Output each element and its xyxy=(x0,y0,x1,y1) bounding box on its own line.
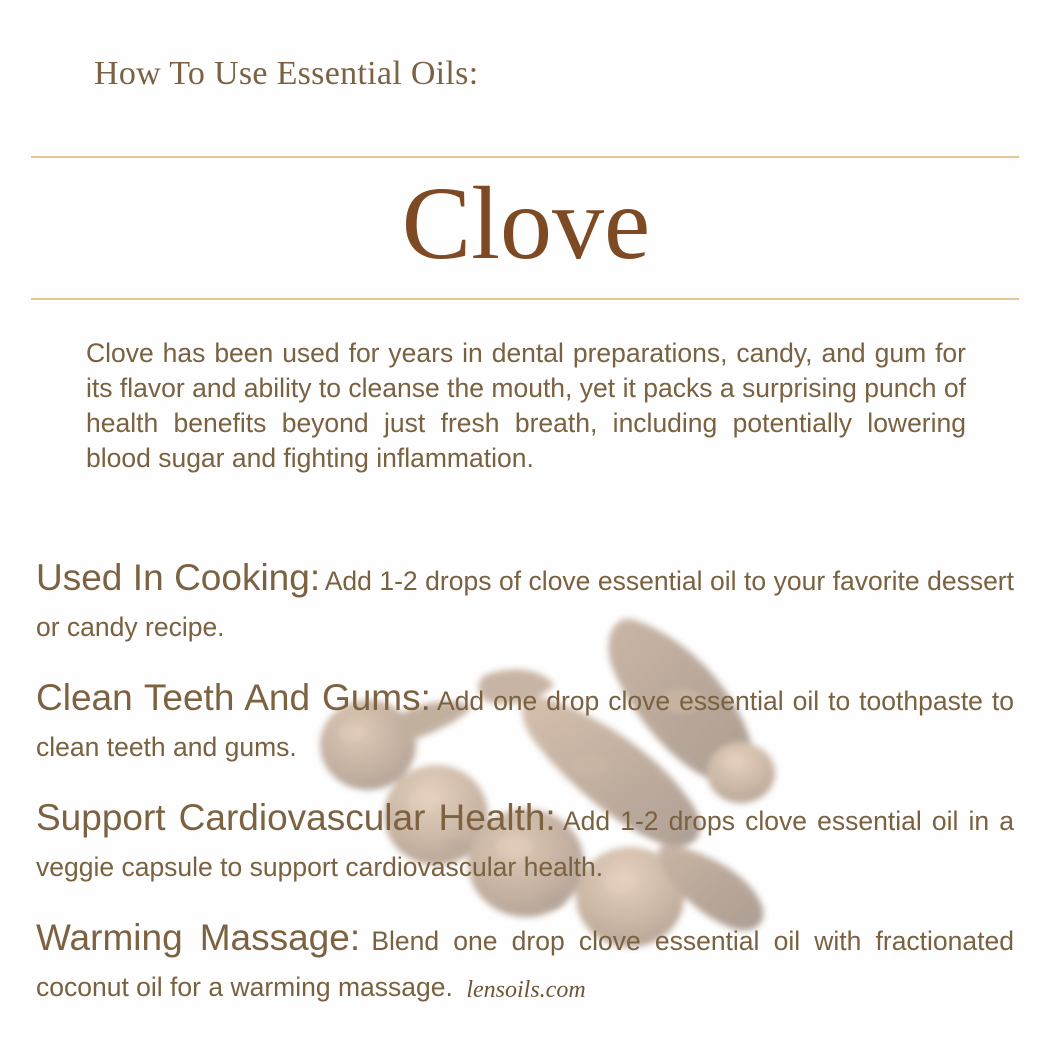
intro-paragraph: Clove has been used for years in dental … xyxy=(86,336,966,476)
use-item-cardiovascular: Support Cardiovascular Health: Add 1-2 d… xyxy=(36,796,1014,894)
use-item-cooking: Used In Cooking: Add 1-2 drops of clove … xyxy=(36,556,1014,654)
use-title-cooking: Used In Cooking: xyxy=(36,557,320,598)
page-header-title: How To Use Essential Oils: xyxy=(94,55,478,93)
infographic-page: How To Use Essential Oils: Clove Clove h… xyxy=(0,0,1052,1052)
divider-top xyxy=(31,156,1019,158)
page-title: Clove xyxy=(0,168,1052,280)
footer-website: lensoils.com xyxy=(0,977,1052,1004)
use-title-cardiovascular: Support Cardiovascular Health: xyxy=(36,797,556,838)
use-item-teeth-and-gums: Clean Teeth And Gums: Add one drop clove… xyxy=(36,676,1014,774)
use-title-teeth-and-gums: Clean Teeth And Gums: xyxy=(36,677,431,718)
uses-list: Used In Cooking: Add 1-2 drops of clove … xyxy=(36,556,1014,1014)
use-title-warming-massage: Warming Massage: xyxy=(36,917,360,958)
divider-bottom xyxy=(31,298,1019,300)
